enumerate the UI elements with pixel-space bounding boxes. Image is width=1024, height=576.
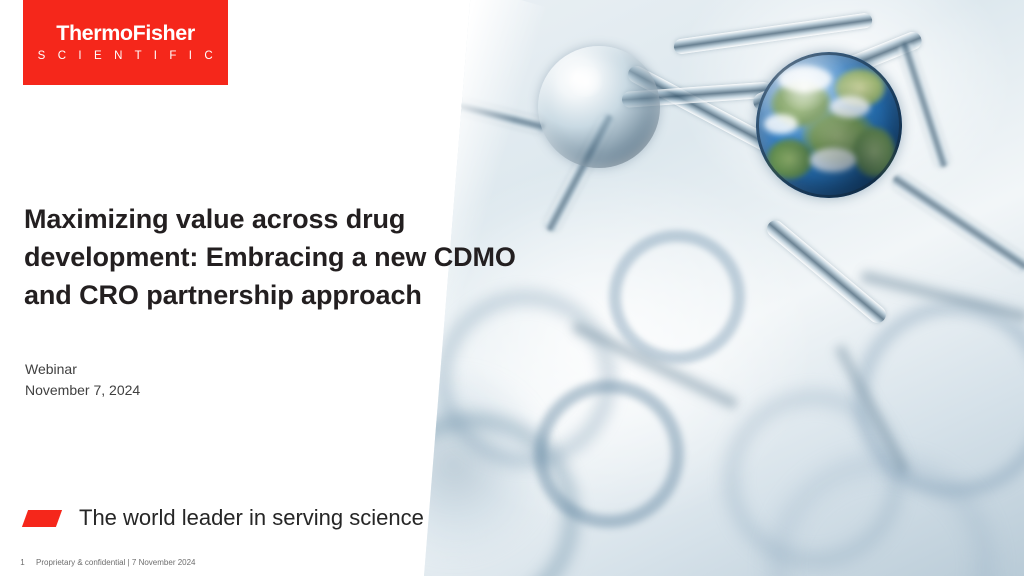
thermo-fisher-logo: ThermoFisher S C I E N T I F I C	[23, 0, 228, 85]
subtitle-block: Webinar November 7, 2024	[25, 359, 140, 401]
page-number: 1	[9, 558, 36, 567]
earth-globe	[756, 52, 902, 198]
confidentiality-note: Proprietary & confidential | 7 November …	[36, 558, 196, 567]
presentation-slide: ThermoFisher S C I E N T I F I C Maximiz…	[0, 0, 1024, 576]
page-title: Maximizing value across drug development…	[24, 200, 524, 314]
event-date: November 7, 2024	[25, 380, 140, 401]
logo-wordmark: ThermoFisher	[56, 23, 195, 45]
bokeh-ring-3	[534, 380, 684, 528]
logo-subtext: S C I E N T I F I C	[38, 51, 218, 63]
tagline-text: The world leader in serving science	[79, 505, 424, 531]
event-type: Webinar	[25, 359, 140, 380]
tagline: The world leader in serving science	[25, 505, 424, 531]
glass-atom-node	[538, 46, 660, 168]
slide-footer: 1 Proprietary & confidential | 7 Novembe…	[9, 558, 196, 567]
parallelogram-mark-icon	[22, 510, 62, 527]
globe-rim	[756, 52, 902, 198]
